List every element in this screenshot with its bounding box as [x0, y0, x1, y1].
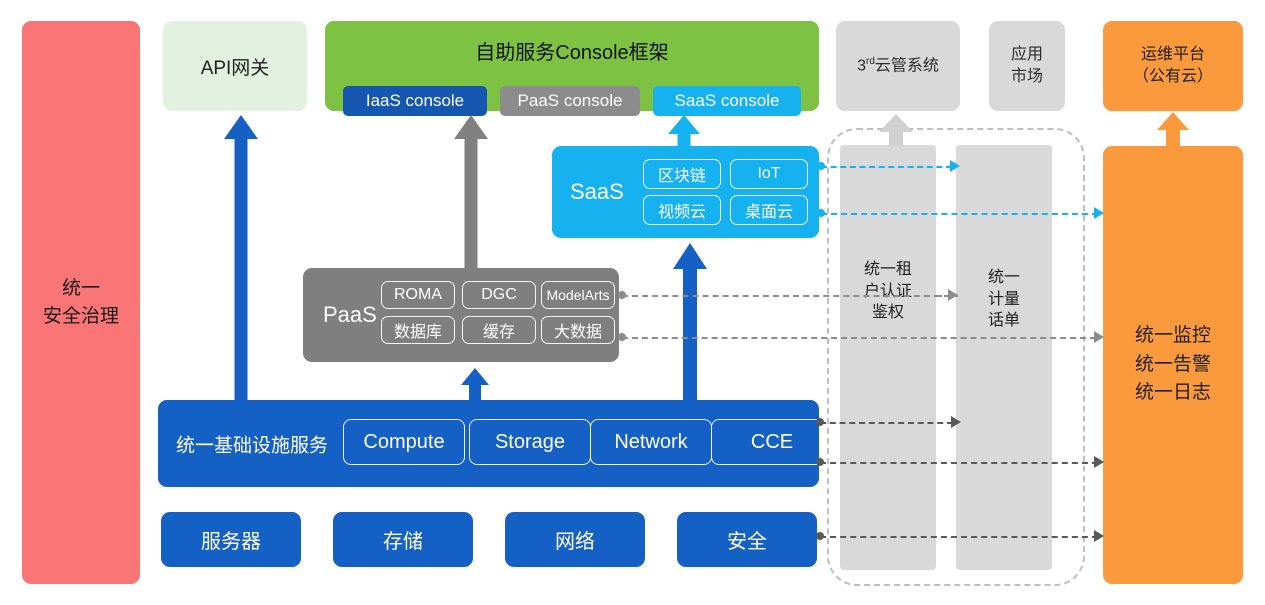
arrow-ops-column-to-ops-platform: [1157, 112, 1189, 146]
ops-monitoring-line2: 统一告警: [1135, 351, 1211, 380]
saas-block[interactable]: SaaS 区块链 IoT 视频云 桌面云: [552, 146, 819, 238]
hardware-server-box[interactable]: 服务器: [161, 512, 301, 567]
connector-arrowhead-paas-2: [1094, 331, 1104, 343]
unified-tenant-auth-label: 统一租 户认证 鉴权: [840, 259, 936, 324]
connector-arrowhead-infra-2: [1094, 456, 1104, 468]
connector-infra-to-ops: [820, 462, 1098, 464]
paas-service-dgc[interactable]: DGC: [462, 281, 536, 309]
ops-platform-public-cloud-box[interactable]: 运维平台 （公有云）: [1103, 21, 1243, 111]
iaas-console-label: IaaS console: [366, 91, 464, 111]
connector-auth-to-metering: [936, 295, 958, 297]
arrow-saas-to-console: [668, 115, 700, 148]
ops-monitoring-column[interactable]: 统一监控 统一告警 统一日志: [1103, 146, 1243, 584]
saas-service-video-cloud[interactable]: 视频云: [643, 195, 721, 225]
paas-console-label: PaaS console: [518, 91, 623, 111]
paas-service-label: 缓存: [483, 318, 515, 342]
app-market-line1: 应用: [1011, 44, 1043, 66]
ops-monitoring-line3: 统一日志: [1135, 379, 1211, 408]
saas-service-label: 区块链: [658, 162, 706, 186]
console-framework-title: 自助服务Console框架: [325, 36, 819, 65]
infra-service-label: Storage: [495, 431, 565, 454]
security-governance-column[interactable]: 统一 安全治理: [22, 21, 140, 584]
connector-paas-to-ops: [622, 337, 1096, 339]
console-framework-box[interactable]: 自助服务Console框架 IaaS console PaaS console …: [325, 21, 819, 111]
api-gateway-box[interactable]: API网关: [163, 21, 307, 111]
paas-service-cache[interactable]: 缓存: [462, 316, 536, 344]
infra-service-compute[interactable]: Compute: [343, 419, 465, 465]
saas-service-blockchain[interactable]: 区块链: [643, 159, 721, 189]
paas-service-database[interactable]: 数据库: [381, 316, 455, 344]
infrastructure-service-label: 统一基础设施服务: [176, 430, 328, 457]
ops-platform-line2: （公有云）: [1133, 66, 1213, 88]
app-market-line2: 市场: [1011, 66, 1043, 88]
connector-arrowhead-saas-1: [950, 160, 960, 172]
infra-service-network[interactable]: Network: [590, 419, 712, 465]
saas-service-label: 桌面云: [745, 198, 793, 222]
iaas-console-chip[interactable]: IaaS console: [343, 86, 487, 116]
unified-metering-label: 统一 计量 话单: [956, 267, 1052, 332]
arrow-shared-to-third-party: [879, 114, 913, 146]
paas-service-label: DGC: [481, 286, 517, 304]
paas-console-chip[interactable]: PaaS console: [500, 86, 640, 116]
infrastructure-service-bar[interactable]: 统一基础设施服务 Compute Storage Network CCE: [158, 400, 819, 487]
hardware-label: 服务器: [201, 525, 261, 554]
app-market-box[interactable]: 应用 市场: [989, 21, 1065, 111]
saas-service-label: 视频云: [658, 198, 706, 222]
hardware-label: 安全: [727, 525, 767, 554]
security-governance-line1: 统一: [62, 275, 100, 303]
saas-console-chip[interactable]: SaaS console: [653, 86, 801, 116]
connector-saas-to-ops: [821, 213, 1098, 215]
paas-service-label: 数据库: [394, 318, 442, 342]
paas-service-roma[interactable]: ROMA: [381, 281, 455, 309]
unified-metering-bar[interactable]: 统一 计量 话单: [956, 145, 1052, 570]
saas-service-desktop-cloud[interactable]: 桌面云: [730, 195, 808, 225]
paas-service-label: ModelArts: [546, 287, 609, 303]
security-governance-line2: 安全治理: [43, 303, 119, 331]
hardware-storage-box[interactable]: 存储: [333, 512, 473, 567]
hardware-label: 网络: [555, 525, 595, 554]
paas-block[interactable]: PaaS ROMA DGC ModelArts 数据库 缓存 大数据: [303, 268, 619, 362]
paas-label: PaaS: [323, 302, 377, 328]
arrow-infra-to-saas: [673, 243, 707, 400]
connector-arrowhead-saas-2: [1094, 207, 1104, 219]
arrow-infra-to-api-gateway: [224, 115, 258, 402]
saas-label: SaaS: [570, 179, 624, 205]
ops-platform-line1: 运维平台: [1141, 44, 1205, 66]
connector-infra-to-metering: [820, 422, 953, 424]
paas-service-label: ROMA: [394, 286, 442, 304]
unified-tenant-auth-bar[interactable]: 统一租 户认证 鉴权: [840, 145, 936, 570]
hardware-security-box[interactable]: 安全: [677, 512, 817, 567]
connector-hardware-to-ops: [820, 536, 1098, 538]
third-party-cloud-mgmt-label: 3rd云管系统: [857, 55, 939, 77]
infra-service-label: Network: [614, 431, 687, 454]
arrow-infra-to-paas: [461, 368, 489, 400]
paas-service-modelarts[interactable]: ModelArts: [541, 281, 615, 309]
infra-service-storage[interactable]: Storage: [469, 419, 591, 465]
saas-console-label: SaaS console: [675, 91, 780, 111]
connector-paas-to-metering: [622, 295, 950, 297]
hardware-label: 存储: [383, 525, 423, 554]
infra-service-label: Compute: [363, 431, 444, 454]
infra-service-label: CCE: [751, 431, 793, 454]
saas-service-iot[interactable]: IoT: [730, 159, 808, 189]
ops-monitoring-line1: 统一监控: [1135, 322, 1211, 351]
saas-service-label: IoT: [757, 165, 780, 183]
connector-arrowhead-hardware: [1094, 530, 1104, 542]
paas-service-label: 大数据: [554, 318, 602, 342]
hardware-network-box[interactable]: 网络: [505, 512, 645, 567]
infra-service-cce[interactable]: CCE: [711, 419, 833, 465]
connector-saas-to-metering: [821, 166, 952, 168]
third-party-cloud-mgmt-box[interactable]: 3rd云管系统: [836, 21, 960, 111]
api-gateway-label: API网关: [201, 53, 270, 80]
connector-arrowhead-infra-1: [951, 416, 961, 428]
arrow-paas-to-console: [454, 115, 488, 270]
paas-service-bigdata[interactable]: 大数据: [541, 316, 615, 344]
architecture-diagram: 统一 安全治理 API网关 自助服务Console框架 IaaS console…: [0, 0, 1265, 605]
